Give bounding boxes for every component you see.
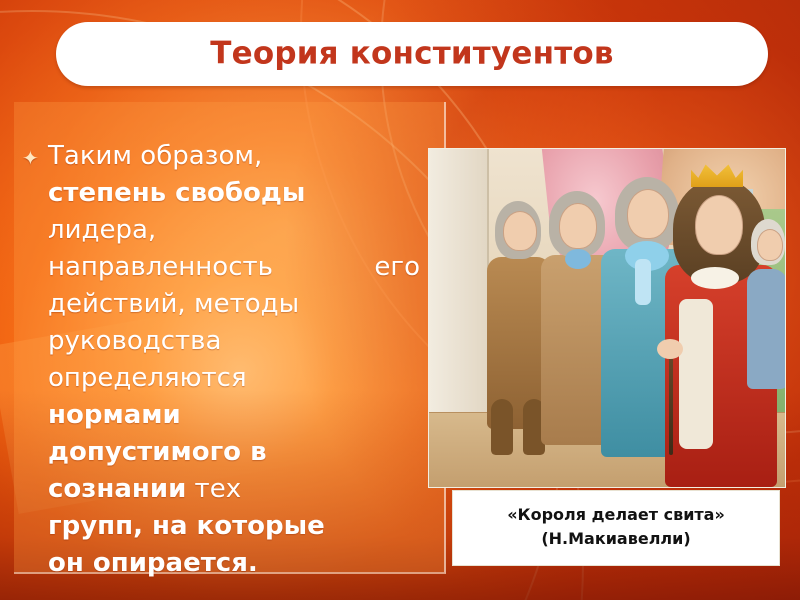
caption-line-2: (Н.Макиавелли) (453, 527, 779, 551)
caption-box: «Короля делает свита» (Н.Макиавелли) (452, 490, 780, 566)
body-line-4-part-2: его (374, 249, 420, 286)
body-line-7: определяются (48, 360, 446, 397)
body-line-11-text: групп, на которые (48, 511, 325, 541)
body-line-4: направленность его (48, 249, 420, 286)
body-line-10: сознании тех (48, 471, 446, 508)
body-line-5: действий, методы (48, 286, 446, 323)
body-line-8: нормами (48, 397, 446, 434)
body-line-10-bold: сознании (48, 474, 186, 504)
body-line-3: лидера, (48, 212, 446, 249)
body-line-12-text: он опирается. (48, 548, 258, 578)
body-line-12: он опирается. (48, 545, 446, 582)
bullet-diamond-icon: ✦ (22, 148, 42, 168)
title-banner: Теория конституентов (56, 22, 768, 86)
body-text-block: Таким образом, степень свободы лидера, н… (48, 138, 446, 582)
slide-title: Теория конституентов (56, 35, 768, 71)
body-line-10-plain: тех (186, 474, 241, 504)
caption-line-1: «Короля делает свита» (453, 503, 779, 527)
body-line-9-text: допустимого в (48, 437, 267, 467)
body-line-2-text: степень свободы (48, 178, 305, 208)
body-line-6: руководства (48, 323, 446, 360)
body-line-11: групп, на которые (48, 508, 446, 545)
body-line-1: Таким образом, (48, 138, 446, 175)
caption-text: «Короля делает свита» (Н.Макиавелли) (453, 503, 779, 551)
body-line-8-text: нормами (48, 400, 181, 430)
historical-court-illustration (428, 148, 786, 488)
body-line-2: степень свободы (48, 175, 446, 212)
body-line-4-part-1: направленность (48, 249, 273, 286)
body-line-9: допустимого в (48, 434, 446, 471)
presentation-slide: Теория конституентов ✦ Таким образом, ст… (0, 0, 800, 600)
